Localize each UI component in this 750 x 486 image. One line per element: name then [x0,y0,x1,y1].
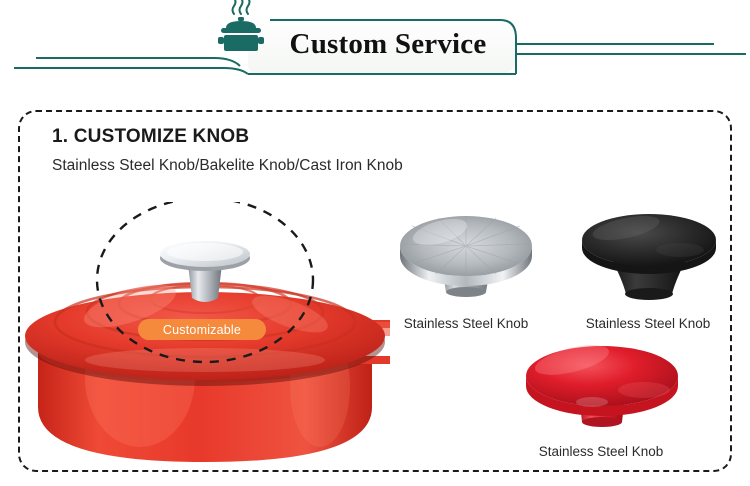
custom-service-page: Custom Service 1. CUSTOMIZE KNOB Stainle… [0,0,750,486]
product-stainless-steel-knob[interactable]: Stainless Steel Knob [378,194,554,331]
product-bakelite-knob[interactable]: Stainless Steel Knob [560,194,736,331]
product-cast-iron-knob[interactable]: Stainless Steel Knob [468,324,734,459]
cast-iron-knob-image [468,324,734,442]
bakelite-knob-image [560,194,736,314]
page-title: Custom Service [268,24,508,64]
customizable-badge: Customizable [138,319,266,340]
card-title: 1. CUSTOMIZE KNOB [52,126,249,148]
stainless-knob-image [378,194,554,314]
customize-knob-card: 1. CUSTOMIZE KNOB Stainless Steel Knob/B… [18,110,732,472]
header-banner: Custom Service [0,0,750,92]
banner-left-rule-lower [14,68,248,74]
banner-left-rule-upper [36,58,240,66]
red-pot-illustration: Customizable [20,202,390,474]
product-label: Stainless Steel Knob [468,444,734,459]
card-subtitle: Stainless Steel Knob/Bakelite Knob/Cast … [52,157,403,175]
